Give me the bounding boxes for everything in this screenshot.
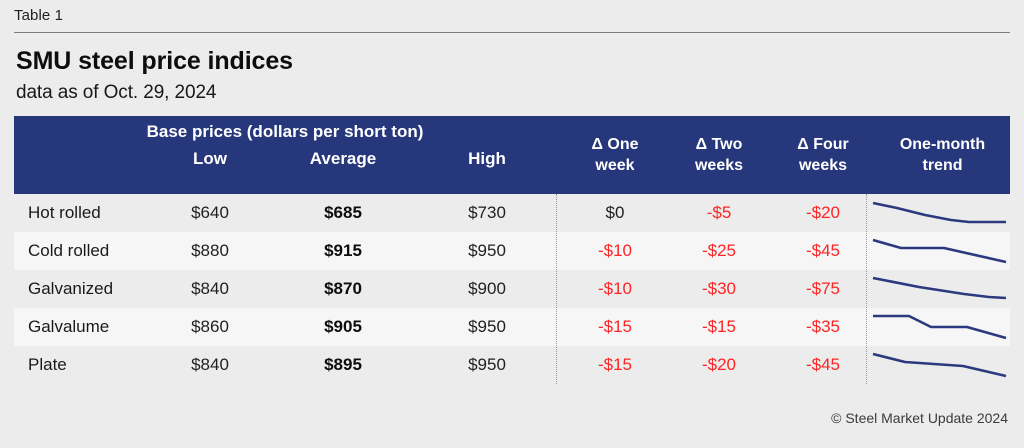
table-row: Plate$840$895$950-$15-$20-$45: [14, 346, 1010, 384]
cell-high: $950: [417, 346, 557, 384]
cell-high: $900: [417, 270, 557, 308]
cell-product: Galvanized: [28, 270, 113, 308]
cell-high: $730: [417, 194, 557, 232]
cell-low: $840: [140, 346, 280, 384]
cell-product: Plate: [28, 346, 67, 384]
cell-delta-four-weeks: -$35: [771, 308, 875, 346]
one-month-trend-sparkline: [869, 270, 1010, 308]
header-col-delta-four-weeks: Δ Four weeks: [771, 134, 875, 176]
table-row: Hot rolled$640$685$730$0-$5-$20: [14, 194, 1010, 232]
header-col-high: High: [417, 149, 557, 169]
cell-high: $950: [417, 232, 557, 270]
cell-high: $950: [417, 308, 557, 346]
cell-average: $895: [273, 346, 413, 384]
cell-delta-two-weeks: -$30: [667, 270, 771, 308]
cell-delta-four-weeks: -$20: [771, 194, 875, 232]
cell-delta-four-weeks: -$75: [771, 270, 875, 308]
caption-divider: [14, 32, 1010, 33]
header-delta-four-weeks-line1: Δ Four: [797, 136, 849, 153]
header-col-low: Low: [140, 149, 280, 169]
table-body: Hot rolled$640$685$730$0-$5-$20Cold roll…: [14, 194, 1010, 384]
cell-delta-four-weeks: -$45: [771, 346, 875, 384]
cell-delta-one-week: -$15: [563, 346, 667, 384]
header-delta-two-weeks-line2: weeks: [695, 157, 743, 174]
cell-low: $860: [140, 308, 280, 346]
table-row: Galvanized$840$870$900-$10-$30-$75: [14, 270, 1010, 308]
header-delta-four-weeks-line2: weeks: [799, 157, 847, 174]
cell-delta-one-week: -$10: [563, 232, 667, 270]
header-delta-one-week-line1: Δ One: [591, 136, 638, 153]
header-trend-line1: One-month: [900, 136, 985, 153]
header-trend-line2: trend: [923, 157, 963, 174]
cell-average: $685: [273, 194, 413, 232]
header-delta-two-weeks-line1: Δ Two: [696, 136, 743, 153]
cell-product: Galvalume: [28, 308, 109, 346]
page-title: SMU steel price indices: [16, 47, 293, 76]
cell-low: $840: [140, 270, 280, 308]
price-table: Base prices (dollars per short ton) Low …: [14, 116, 1010, 384]
column-divider-deltas: [556, 194, 557, 384]
one-month-trend-sparkline: [869, 232, 1010, 270]
cell-delta-two-weeks: -$25: [667, 232, 771, 270]
table-row: Cold rolled$880$915$950-$10-$25-$45: [14, 232, 1010, 270]
cell-delta-two-weeks: -$15: [667, 308, 771, 346]
cell-average: $915: [273, 232, 413, 270]
one-month-trend-sparkline: [869, 194, 1010, 232]
header-col-delta-one-week: Δ One week: [563, 134, 667, 176]
cell-delta-two-weeks: -$20: [667, 346, 771, 384]
header-col-average: Average: [273, 149, 413, 169]
cell-delta-one-week: -$10: [563, 270, 667, 308]
cell-average: $870: [273, 270, 413, 308]
cell-low: $640: [140, 194, 280, 232]
cell-delta-one-week: -$15: [563, 308, 667, 346]
table-row: Galvalume$860$905$950-$15-$15-$35: [14, 308, 1010, 346]
copyright-notice: © Steel Market Update 2024: [831, 410, 1008, 426]
cell-product: Cold rolled: [28, 232, 109, 270]
one-month-trend-sparkline: [869, 308, 1010, 346]
table-caption: Table 1: [14, 7, 63, 24]
cell-delta-two-weeks: -$5: [667, 194, 771, 232]
page-subtitle: data as of Oct. 29, 2024: [16, 82, 216, 104]
header-delta-one-week-line2: week: [595, 157, 634, 174]
header-col-one-month-trend: One-month trend: [875, 134, 1010, 176]
column-divider-trend: [866, 194, 867, 384]
header-base-prices-group: Base prices (dollars per short ton): [14, 122, 556, 142]
cell-product: Hot rolled: [28, 194, 101, 232]
table-header: Base prices (dollars per short ton) Low …: [14, 116, 1010, 194]
cell-average: $905: [273, 308, 413, 346]
header-col-delta-two-weeks: Δ Two weeks: [667, 134, 771, 176]
cell-delta-one-week: $0: [563, 194, 667, 232]
cell-low: $880: [140, 232, 280, 270]
one-month-trend-sparkline: [869, 346, 1010, 384]
cell-delta-four-weeks: -$45: [771, 232, 875, 270]
